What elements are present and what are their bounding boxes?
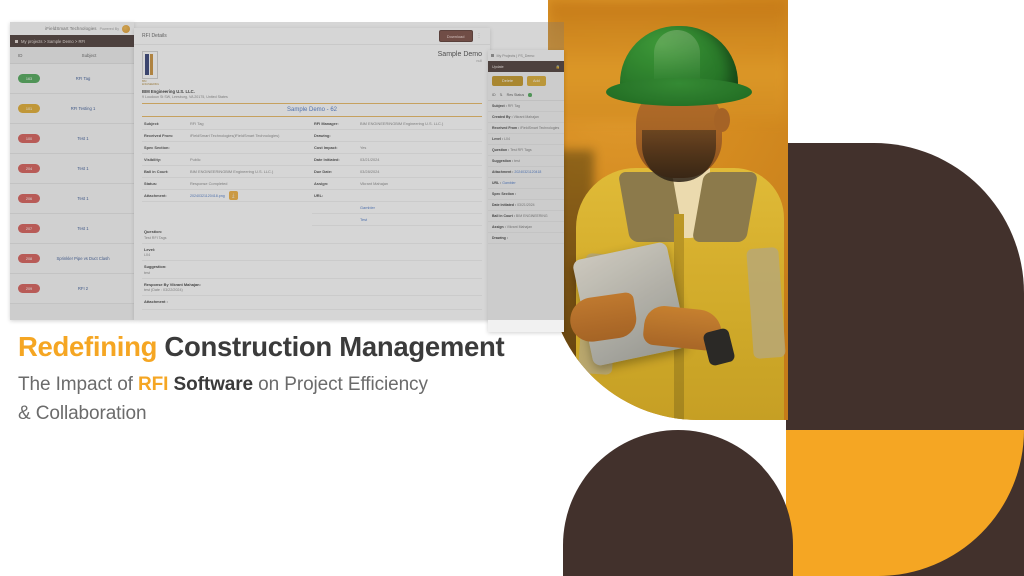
worker-photo — [548, 0, 788, 420]
status-badge: 163 — [18, 74, 40, 83]
section-label: Attachment : — [144, 299, 480, 304]
field-label: Ball in Court : — [492, 214, 516, 218]
page-title: RFI Details — [142, 33, 167, 39]
status-badge: 207 — [18, 224, 40, 233]
field-value: Public — [190, 157, 312, 162]
field-label: Suggestion : — [492, 159, 514, 163]
field-value: test — [514, 159, 520, 163]
section-value: test — [144, 271, 480, 275]
field-value: 03/21/2024 — [360, 157, 482, 162]
field-label: Subject: — [142, 121, 190, 126]
field-label: Assign : — [492, 225, 507, 229]
status-badge: 209 — [18, 284, 40, 293]
mobile-breadcrumb: My Projects | FS_Demo — [497, 54, 535, 58]
field-value: Yes — [360, 145, 482, 150]
right-field-column: RFI Manager:BIM ENGINEERINGBIM Engineeri… — [312, 118, 482, 226]
list-item: Level : L04 — [488, 134, 564, 145]
document-section: Attachment : — [142, 296, 482, 310]
table-row[interactable]: 209RFI 2 — [10, 274, 134, 304]
list-item: Suggestion : test — [488, 156, 564, 167]
field-label: Received From : — [492, 126, 520, 130]
section-label: Suggestion: — [144, 264, 480, 269]
column-header-subject: Subject — [52, 53, 126, 58]
field-row: Ball in Court:BIM ENGINEERINGBIM Enginee… — [142, 166, 312, 178]
field-label: Cost Impact: — [312, 145, 360, 150]
url-link-row: Test — [312, 214, 482, 226]
document-section: Question:Test RFI Tags — [142, 226, 482, 244]
field-label: Level : — [492, 137, 504, 141]
status-badge: 206 — [18, 194, 40, 203]
field-label: Attachment: — [142, 193, 190, 198]
list-item: URL : Gambler — [488, 178, 564, 189]
section-label: Response By Vikrant Mahajan: — [144, 282, 480, 287]
project-sub: null — [438, 59, 482, 63]
field-row: RFI Manager:BIM ENGINEERINGBIM Engineeri… — [312, 118, 482, 130]
field-label: Status: — [142, 181, 190, 186]
field-value: RFI Tag — [508, 104, 520, 108]
field-label: Attachment : — [492, 170, 514, 174]
section-label: Level: — [144, 247, 480, 252]
rfi-list-panel: iFieldSmart Technologies Powered By My p… — [10, 22, 134, 320]
sub-part-a: The Impact of — [18, 374, 138, 395]
list-topbar: iFieldSmart Technologies Powered By — [10, 22, 134, 35]
field-label: Drawing : — [492, 236, 508, 240]
project-name: Sample Demo — [438, 51, 482, 58]
section-value: Test RFI Tags — [144, 236, 480, 240]
attachment-row: Attachment:20240321120418.png⤓ — [142, 190, 312, 202]
field-label: Spec Section: — [142, 145, 190, 150]
field-value: Vikrant Mahajan — [514, 115, 539, 119]
attachment-file-link[interactable]: 20240321120418.png — [190, 194, 225, 198]
field-row: Status:Response Completed — [142, 178, 312, 190]
row-subject[interactable]: Test 1 — [40, 136, 126, 141]
url-link-row: Gambler — [312, 202, 482, 214]
decor-brown-block — [786, 143, 1024, 433]
section-label: Question: — [144, 229, 480, 234]
field-value: L04 — [504, 137, 510, 141]
field-value[interactable]: 20240321120418 — [514, 170, 541, 174]
list-item: Subject : RFI Tag — [488, 101, 564, 112]
company-info: BIM Engineering U.S. LLC. 9 Loudoun St S… — [142, 89, 482, 99]
field-label: Ball in Court: — [142, 169, 190, 174]
hero-banner: iFieldSmart Technologies Powered By My p… — [0, 0, 1024, 576]
field-value: BIM ENGINEERING — [516, 214, 548, 218]
avatar[interactable] — [122, 25, 130, 33]
more-options-icon[interactable]: ⋮ — [477, 33, 483, 39]
section-value: test (Date : 03/22/2024) — [144, 288, 480, 292]
field-row: Date Initiated:03/21/2024 — [312, 154, 482, 166]
powered-by-label: Powered By — [100, 27, 119, 31]
list-item: Ball in Court : BIM ENGINEERING — [488, 211, 564, 222]
download-icon[interactable]: ⤓ — [229, 191, 238, 200]
details-header: RFI Details Download ⋮ — [134, 28, 490, 45]
field-value: 03/21/2024 — [517, 203, 535, 207]
mobile-buttons: Delete Add — [488, 72, 564, 90]
row-subject[interactable]: RFI Tag — [40, 76, 126, 81]
row-subject[interactable]: Test 1 — [40, 196, 126, 201]
field-row: Due Date:03/28/2024 — [312, 166, 482, 178]
document-title: Sample Demo - 62 — [142, 103, 482, 117]
row-subject[interactable]: Test 1 — [40, 166, 126, 171]
list-item: Assign : Vikrant Mahajan — [488, 222, 564, 233]
url-link[interactable]: Gambler — [360, 205, 482, 210]
rfi-document: BIM ENGINEERING Sample Demo null BIM Eng… — [134, 45, 490, 310]
mobile-topbar: My Projects | FS_Demo — [488, 50, 564, 61]
mobile-action-bar: Update 🔒 — [488, 61, 564, 72]
document-section: Response By Vikrant Mahajan:test (Date :… — [142, 279, 482, 297]
mobile-detail-rows: Subject : RFI TagCreated By : Vikrant Ma… — [488, 101, 564, 244]
column-header-id: ID — [492, 93, 496, 97]
field-label: Due Date: — [312, 169, 360, 174]
field-label: Visibility: — [142, 157, 190, 162]
field-row: Visibility:Public — [142, 154, 312, 166]
left-field-column: Subject:RFI TagReceived From:iFieldSmart… — [142, 118, 312, 226]
column-header-res-status: Res Status — [507, 93, 525, 97]
field-row: Cost Impact:Yes — [312, 142, 482, 154]
field-label: RFI Manager: — [312, 121, 360, 126]
section-value: L04 — [144, 253, 480, 257]
status-badge: 204 — [18, 164, 40, 173]
list-item: Attachment : 20240321120418 — [488, 167, 564, 178]
delete-button[interactable]: Delete — [492, 76, 523, 86]
sub-part-c: on Project Efficiency — [253, 374, 428, 395]
decor-orange-quarter-circle — [786, 430, 1024, 576]
rfi-details-panel: RFI Details Download ⋮ BIM ENGINEERING S… — [134, 28, 490, 320]
field-label: Received From: — [142, 133, 190, 138]
sub-part-d: & Collaboration — [18, 403, 146, 424]
update-button[interactable]: Update — [492, 65, 504, 69]
document-section: Suggestion:test — [142, 261, 482, 279]
mobile-column-headers: ID ⇅ Res Status — [488, 90, 564, 101]
menu-icon[interactable] — [15, 40, 18, 43]
field-label: Spec Section : — [492, 192, 516, 196]
field-label: Question : — [492, 148, 510, 152]
brand-label: iFieldSmart Technologies — [45, 26, 96, 31]
lock-icon[interactable]: 🔒 — [556, 65, 560, 69]
menu-icon[interactable] — [491, 54, 494, 57]
field-value: Vikrant Mahajan — [507, 225, 532, 229]
company-address: 9 Loudoun St SW, Leesburg, VA 20175, Uni… — [142, 95, 482, 99]
breadcrumb-label: My projects > Sample Demo > RFI — [21, 39, 85, 44]
list-item: Drawing : — [488, 233, 564, 244]
sub-accent-rfi: RFI — [138, 374, 168, 395]
field-value: BIM ENGINEERINGBIM Engineering U.S. LLC.… — [190, 169, 312, 174]
company-name: BIM Engineering U.S. LLC. — [142, 89, 482, 94]
field-row: Received From:iFieldSmart Technologies(i… — [142, 130, 312, 142]
field-row: URL: — [312, 190, 482, 202]
document-section: Level:L04 — [142, 244, 482, 262]
field-label: URL : — [492, 181, 502, 185]
row-subject[interactable]: RFI 2 — [40, 286, 126, 291]
app-screenshot-collage: iFieldSmart Technologies Powered By My p… — [10, 22, 564, 320]
sub-strong-software: Software — [168, 374, 253, 395]
field-row: Drawing: — [312, 130, 482, 142]
field-value: Vikrant Mahajan — [360, 181, 482, 186]
url-link[interactable]: Test — [360, 217, 482, 222]
status-badge: 208 — [18, 254, 40, 263]
field-value: RFI Tag — [190, 121, 312, 126]
field-value: iFieldSmart Technologies(iFieldSmart Tec… — [190, 133, 312, 138]
row-subject[interactable]: RFI Testing 1 — [40, 106, 126, 111]
document-sections: Question:Test RFI TagsLevel:L04Suggestio… — [142, 226, 482, 310]
table-row[interactable]: 101RFI Testing 1 — [10, 94, 134, 124]
headline-rest: Construction Management — [157, 331, 504, 362]
list-item: Spec Section : — [488, 189, 564, 200]
status-badge: 100 — [18, 134, 40, 143]
add-button[interactable]: Add — [527, 76, 546, 86]
headline-block: Redefining Construction Management The I… — [18, 332, 548, 428]
table-row[interactable]: 163RFI Tag — [10, 64, 134, 94]
field-value: 20240321120418.png⤓ — [190, 191, 312, 200]
field-label: Drawing: — [312, 133, 360, 138]
field-label: Assign: — [312, 181, 360, 186]
field-value[interactable]: Gambler — [502, 181, 515, 185]
rfi-list-rows: 163RFI Tag101RFI Testing 1100Test 1204Te… — [10, 64, 134, 304]
field-label: URL: — [312, 193, 360, 198]
mobile-rfi-panel: My Projects | FS_Demo Update 🔒 Delete Ad… — [488, 50, 564, 332]
field-label: Subject : — [492, 104, 508, 108]
row-subject[interactable]: Test 1 — [40, 226, 126, 231]
row-subject[interactable]: Sprinkler Pipe vs Duct Clash — [40, 256, 126, 261]
decor-brown-half-circle — [563, 430, 793, 576]
table-row[interactable]: 206Test 1 — [10, 184, 134, 214]
download-button[interactable]: Download — [439, 30, 473, 42]
field-value: iFieldSmart Technologies — [520, 126, 559, 130]
field-value: Test RFI Tags — [510, 148, 531, 152]
list-item: Question : Test RFI Tags — [488, 145, 564, 156]
headline-accent: Redefining — [18, 331, 157, 362]
breadcrumb: My projects > Sample Demo > RFI — [10, 35, 134, 47]
sort-icon[interactable]: ⇅ — [500, 93, 503, 97]
status-badge: 101 — [18, 104, 40, 113]
list-item: Created By : Vikrant Mahajan — [488, 112, 564, 123]
field-value: Response Completed — [190, 181, 312, 186]
list-column-headers: ID Subject — [10, 47, 134, 64]
status-badge — [528, 93, 532, 97]
list-item: Date Initiated : 03/21/2024 — [488, 200, 564, 211]
table-row[interactable]: 204Test 1 — [10, 154, 134, 184]
field-row: Subject:RFI Tag — [142, 118, 312, 130]
field-value: 03/28/2024 — [360, 169, 482, 174]
list-item: Received From : iFieldSmart Technologies — [488, 123, 564, 134]
column-header-id: ID — [18, 53, 52, 58]
page-headline: Redefining Construction Management — [18, 332, 548, 362]
field-row: Assign:Vikrant Mahajan — [312, 178, 482, 190]
table-row[interactable]: 100Test 1 — [10, 124, 134, 154]
field-label: Date Initiated: — [312, 157, 360, 162]
field-label: Created By : — [492, 115, 514, 119]
field-value: BIM ENGINEERINGBIM Engineering U.S. LLC.… — [360, 121, 482, 126]
table-row[interactable]: 207Test 1 — [10, 214, 134, 244]
page-subheadline: The Impact of RFI Software on Project Ef… — [18, 371, 548, 428]
company-logo: BIM ENGINEERING — [142, 51, 159, 86]
table-row[interactable]: 208Sprinkler Pipe vs Duct Clash — [10, 244, 134, 274]
field-row: Spec Section: — [142, 142, 312, 154]
field-label: Date Initiated : — [492, 203, 517, 207]
